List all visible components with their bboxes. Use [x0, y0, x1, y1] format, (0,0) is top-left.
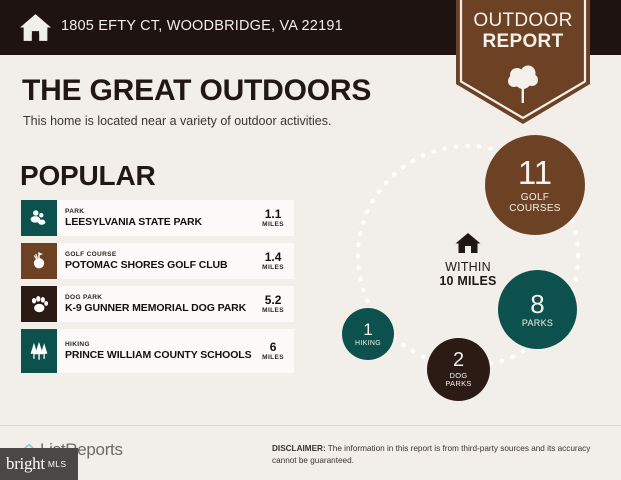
list-item-body: PARK LEESYLVANIA STATE PARK 1.1 MILES — [57, 200, 294, 236]
property-address: 1805 EFTY CT, WOODBRIDGE, VA 22191 — [61, 18, 343, 34]
distance-unit: MILES — [262, 221, 284, 228]
bubble-count: 2 — [453, 350, 464, 371]
mls-suffix: MLS — [48, 459, 67, 469]
bubble-count: 1 — [363, 321, 372, 339]
bubble-label-line2: PARKS — [445, 379, 471, 388]
list-item-text: HIKING PRINCE WILLIAM COUNTY SCHOOLS — [65, 341, 258, 362]
bubble-label: GOLF COURSES — [509, 192, 561, 214]
bubble-label-line1: GOLF — [521, 192, 549, 203]
list-item-body: GOLF COURSE POTOMAC SHORES GOLF CLUB 1.4… — [57, 243, 294, 279]
bubble-label: PARKS — [522, 319, 553, 328]
bubble-golf-courses[interactable]: 11 GOLF COURSES — [485, 135, 585, 235]
popular-list: PARK LEESYLVANIA STATE PARK 1.1 MILES — [21, 200, 294, 380]
bright-mls-watermark: bright MLS — [0, 448, 78, 480]
list-item[interactable]: GOLF COURSE POTOMAC SHORES GOLF CLUB 1.4… — [21, 243, 294, 279]
distance-unit: MILES — [262, 264, 284, 271]
disclaimer-label: DISCLAIMER: — [272, 444, 326, 453]
bubble-label: HIKING — [355, 340, 381, 347]
list-item-text: PARK LEESYLVANIA STATE PARK — [65, 208, 258, 229]
bubble-label: DOG PARKS — [445, 372, 471, 389]
list-item-body: DOG PARK K-9 GUNNER MEMORIAL DOG PARK 5.… — [57, 286, 294, 322]
list-item-distance: 1.1 MILES — [258, 208, 290, 228]
distance-value: 6 — [262, 341, 284, 354]
outdoor-report-page: 1805 EFTY CT, WOODBRIDGE, VA 22191 OUTDO… — [0, 0, 621, 480]
within-10-miles-diagram: 11 GOLF COURSES 8 PARKS 2 DOG PARKS 1 HI… — [330, 128, 621, 418]
home-icon — [19, 12, 52, 43]
list-item-category: HIKING — [65, 341, 258, 349]
page-subtitle: This home is located near a variety of o… — [23, 114, 331, 128]
list-item-name: K-9 GUNNER MEMORIAL DOG PARK — [65, 302, 258, 314]
trees-icon — [21, 329, 57, 373]
list-item-body: HIKING PRINCE WILLIAM COUNTY SCHOOLS 6 M… — [57, 329, 294, 373]
center-label-line2: 10 MILES — [408, 274, 528, 288]
disclaimer: DISCLAIMER: The information in this repo… — [272, 443, 597, 468]
center-label-line1: WITHIN — [408, 260, 528, 274]
distance-value: 1.4 — [262, 251, 284, 264]
list-item-name: PRINCE WILLIAM COUNTY SCHOOLS — [65, 349, 258, 361]
bubble-label-line2: COURSES — [509, 203, 561, 214]
list-item-category: GOLF COURSE — [65, 251, 258, 259]
page-title: THE GREAT OUTDOORS — [22, 74, 371, 108]
list-item-text: GOLF COURSE POTOMAC SHORES GOLF CLUB — [65, 251, 258, 272]
list-item-distance: 1.4 MILES — [258, 251, 290, 271]
list-item[interactable]: DOG PARK K-9 GUNNER MEMORIAL DOG PARK 5.… — [21, 286, 294, 322]
list-item-distance: 6 MILES — [258, 341, 290, 361]
bubble-dog-parks[interactable]: 2 DOG PARKS — [427, 338, 490, 401]
bright-wordmark: bright — [6, 454, 45, 474]
bubble-count: 11 — [518, 156, 552, 190]
list-item-category: DOG PARK — [65, 294, 258, 302]
list-item-name: LEESYLVANIA STATE PARK — [65, 216, 258, 228]
footer-divider — [0, 425, 621, 426]
golf-icon — [21, 243, 57, 279]
list-item[interactable]: PARK LEESYLVANIA STATE PARK 1.1 MILES — [21, 200, 294, 236]
distance-unit: MILES — [262, 354, 284, 361]
tree-icon — [508, 62, 538, 104]
bubble-count: 8 — [530, 291, 544, 318]
list-item-name: POTOMAC SHORES GOLF CLUB — [65, 259, 258, 271]
list-item-distance: 5.2 MILES — [258, 294, 290, 314]
distance-value: 5.2 — [262, 294, 284, 307]
diagram-center: WITHIN 10 MILES — [408, 232, 528, 289]
bubble-hiking[interactable]: 1 HIKING — [342, 308, 394, 360]
distance-unit: MILES — [262, 307, 284, 314]
list-item-text: DOG PARK K-9 GUNNER MEMORIAL DOG PARK — [65, 294, 258, 315]
paw-icon — [21, 286, 57, 322]
list-item-category: PARK — [65, 208, 258, 216]
home-icon — [455, 232, 481, 254]
section-title-popular: POPULAR — [20, 160, 156, 192]
distance-value: 1.1 — [262, 208, 284, 221]
list-item[interactable]: HIKING PRINCE WILLIAM COUNTY SCHOOLS 6 M… — [21, 329, 294, 373]
outdoor-report-badge: OUTDOOR REPORT — [456, 0, 590, 126]
park-icon — [21, 200, 57, 236]
